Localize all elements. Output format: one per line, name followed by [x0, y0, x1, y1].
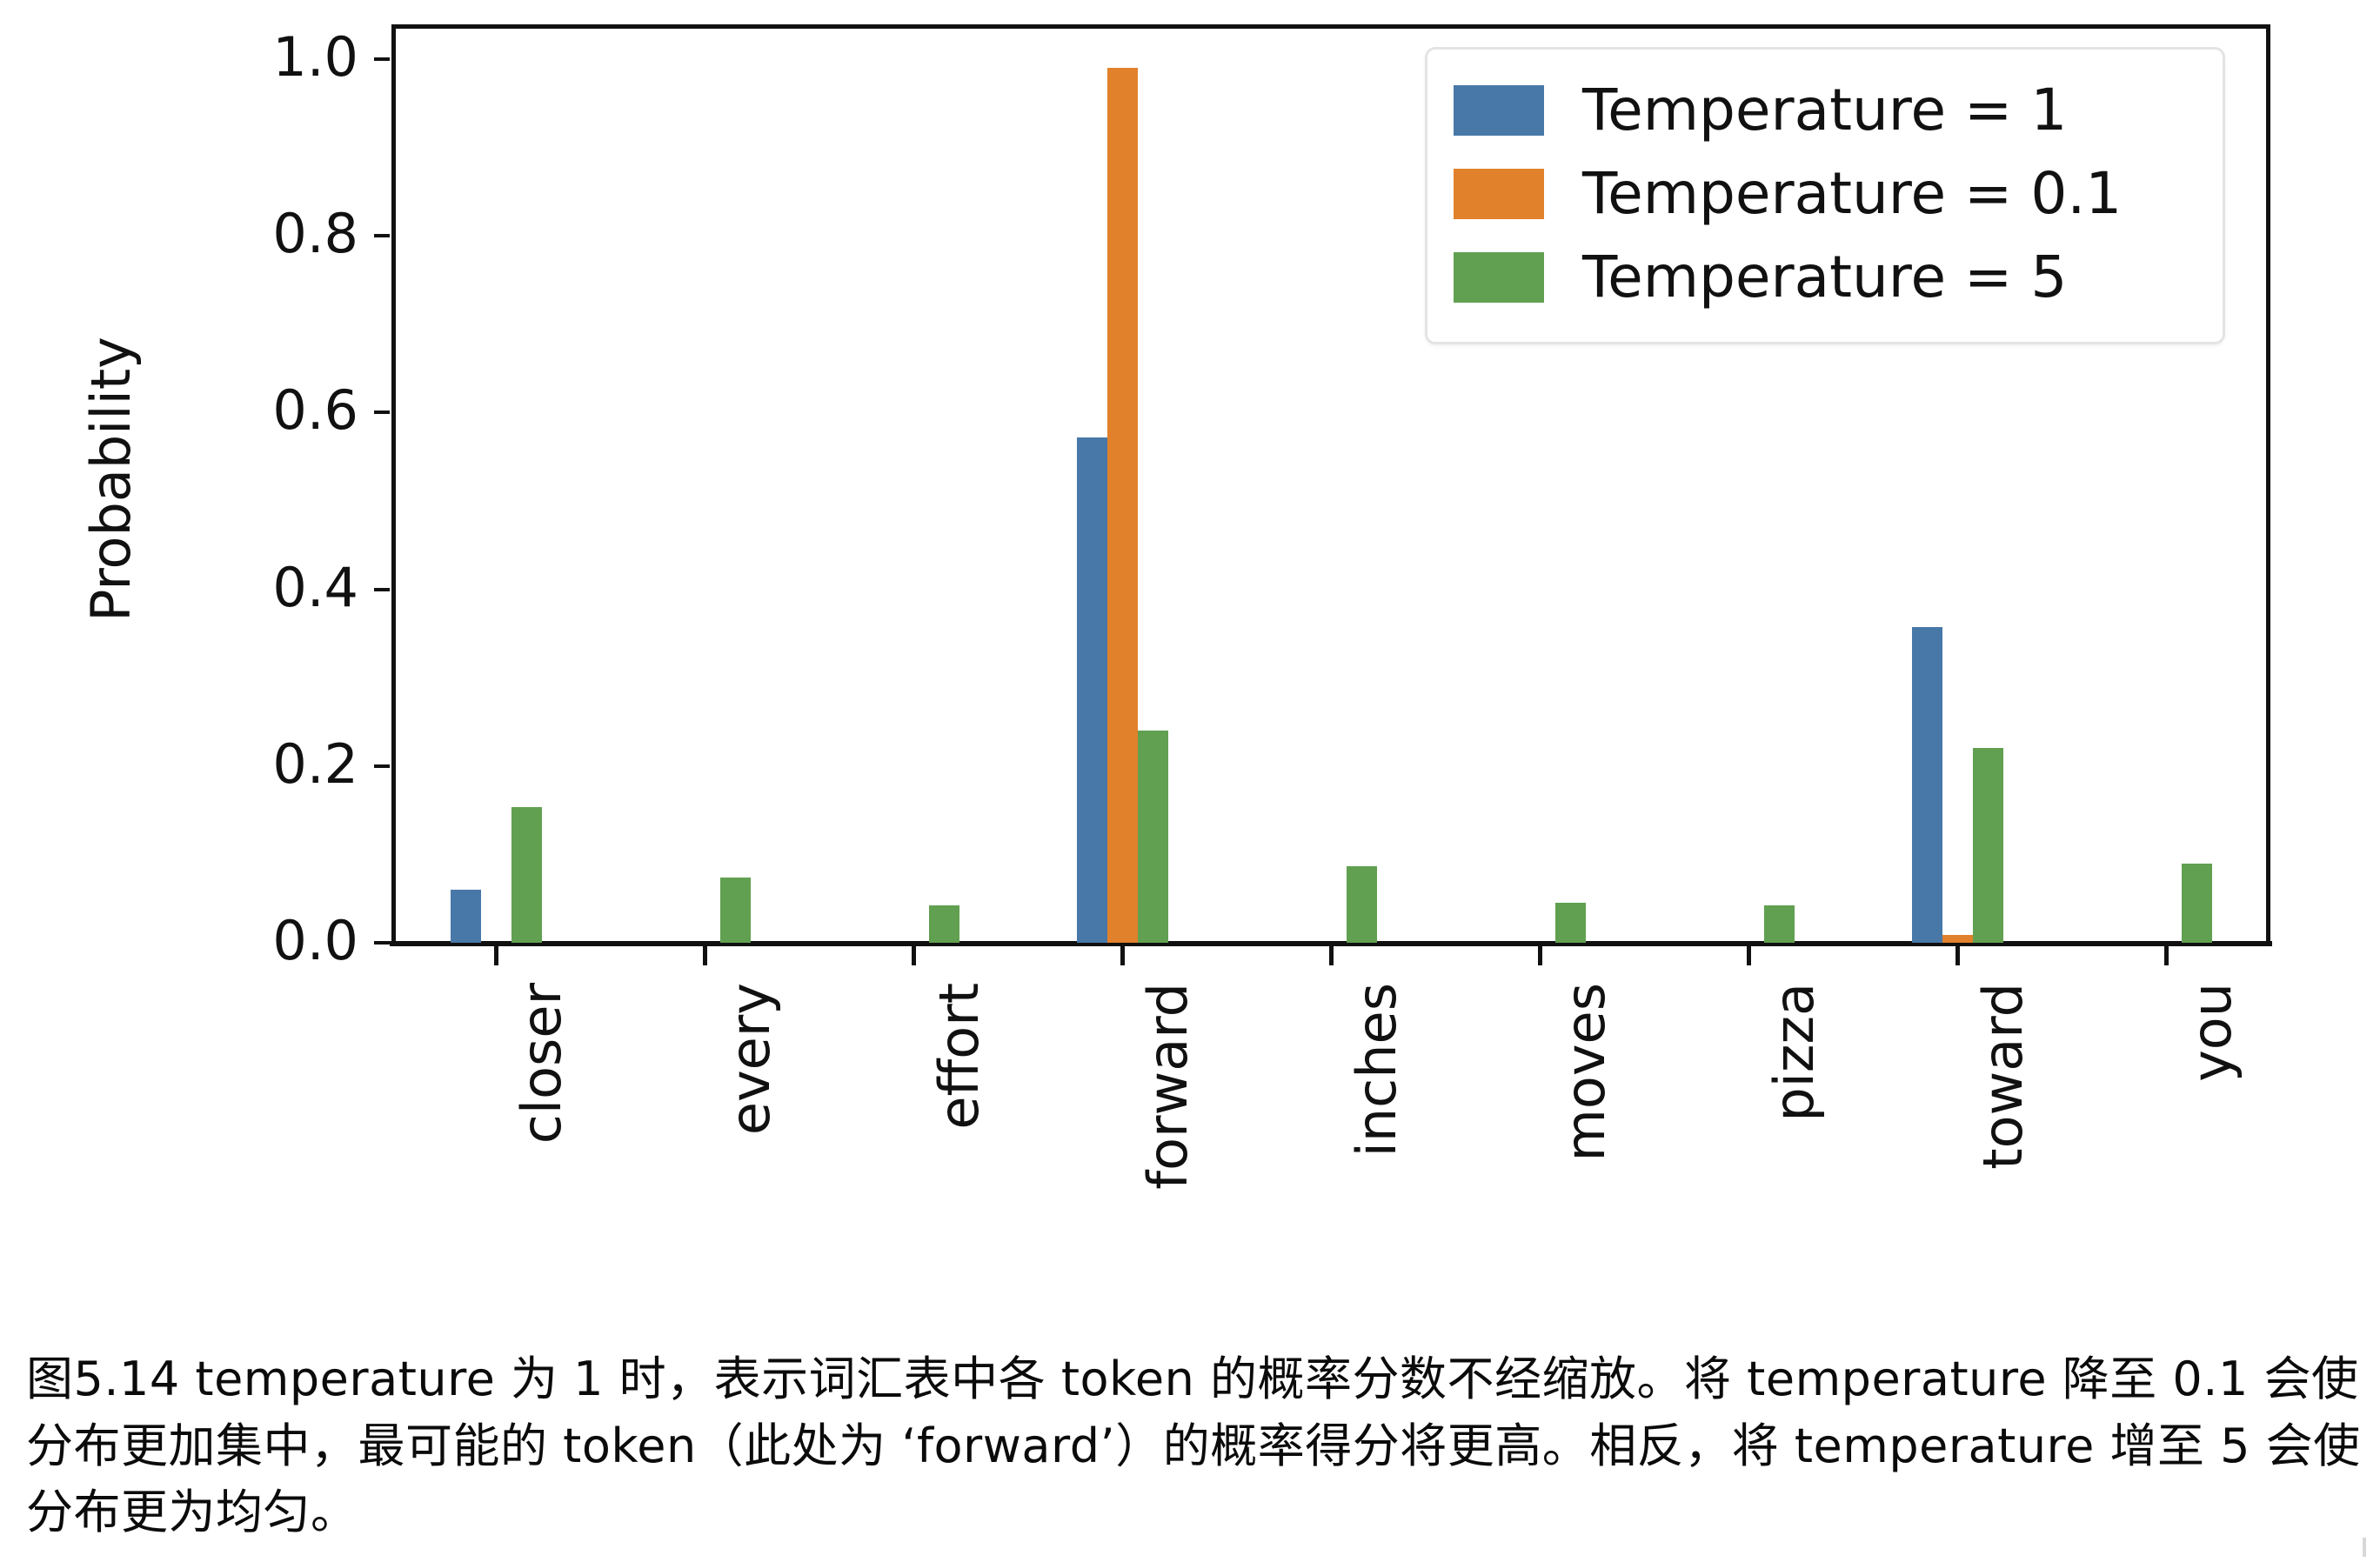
x-tick-mark — [912, 945, 916, 965]
x-tick-label: closer — [515, 983, 569, 1226]
bar — [451, 890, 481, 943]
bar — [1764, 905, 1795, 943]
bar — [1942, 935, 1973, 943]
legend-swatch-temperature-1 — [1454, 85, 1544, 136]
bar — [720, 878, 751, 943]
x-tick-mark — [1747, 945, 1751, 965]
bar — [1107, 68, 1138, 943]
y-tick-mark — [374, 234, 390, 237]
bar — [1138, 731, 1168, 943]
legend-swatch-temperature-5 — [1454, 252, 1544, 303]
x-tick-label: toward — [1976, 983, 2030, 1226]
legend-item: Temperature = 0.1 — [1454, 152, 2200, 236]
figure-caption: 图5.14 temperature 为 1 时，表示词汇表中各 token 的概… — [26, 1346, 2366, 1546]
bar-chart-figure: Probability 0.00.20.40.60.81.0 closereve… — [0, 0, 2380, 1278]
x-tick-mark — [1955, 945, 1960, 965]
y-tick-label: 0.4 — [184, 561, 358, 615]
bar — [1555, 903, 1586, 943]
y-tick-label: 1.0 — [184, 30, 358, 84]
x-tick-label: effort — [933, 983, 986, 1226]
x-tick-label: you — [2185, 983, 2239, 1226]
bar — [1973, 748, 2003, 943]
y-tick-mark — [374, 764, 390, 768]
legend-label-temperature-0-1: Temperature = 0.1 — [1582, 165, 2122, 223]
bar — [929, 905, 959, 943]
x-tick-mark — [1538, 945, 1542, 965]
legend-label-temperature-5: Temperature = 5 — [1582, 249, 2067, 306]
y-tick-mark — [374, 941, 390, 945]
x-tick-label: inches — [1350, 983, 1404, 1226]
x-tick-mark — [703, 945, 707, 965]
bar — [1347, 866, 1377, 943]
x-tick-label: moves — [1559, 983, 1613, 1226]
legend-item: Temperature = 1 — [1454, 69, 2200, 152]
bar — [1912, 627, 1942, 943]
bar — [511, 807, 542, 943]
chart-legend: Temperature = 1 Temperature = 0.1 Temper… — [1425, 47, 2225, 344]
x-tick-mark — [494, 945, 498, 965]
x-tick-mark — [2164, 945, 2169, 965]
bar — [2182, 864, 2212, 943]
x-tick-label: pizza — [1768, 983, 1822, 1226]
x-tick-label: forward — [1141, 983, 1195, 1226]
y-tick-label: 0.8 — [184, 207, 358, 261]
x-tick-mark — [1329, 945, 1334, 965]
y-tick-label: 0.2 — [184, 738, 358, 791]
x-tick-mark — [1120, 945, 1125, 965]
y-tick-mark — [374, 588, 390, 591]
y-tick-label: 0.6 — [184, 384, 358, 437]
legend-swatch-temperature-0-1 — [1454, 169, 1544, 219]
y-tick-mark — [374, 411, 390, 414]
legend-item: Temperature = 5 — [1454, 236, 2200, 319]
y-axis-title: Probability — [84, 253, 138, 705]
x-tick-label: every — [724, 983, 778, 1226]
figure-page: Probability 0.00.20.40.60.81.0 closereve… — [0, 0, 2380, 1562]
page-edge-mark — [2363, 1538, 2366, 1557]
bar — [1077, 437, 1107, 943]
y-tick-label: 0.0 — [184, 914, 358, 968]
legend-label-temperature-1: Temperature = 1 — [1582, 82, 2067, 139]
y-tick-mark — [374, 57, 390, 61]
